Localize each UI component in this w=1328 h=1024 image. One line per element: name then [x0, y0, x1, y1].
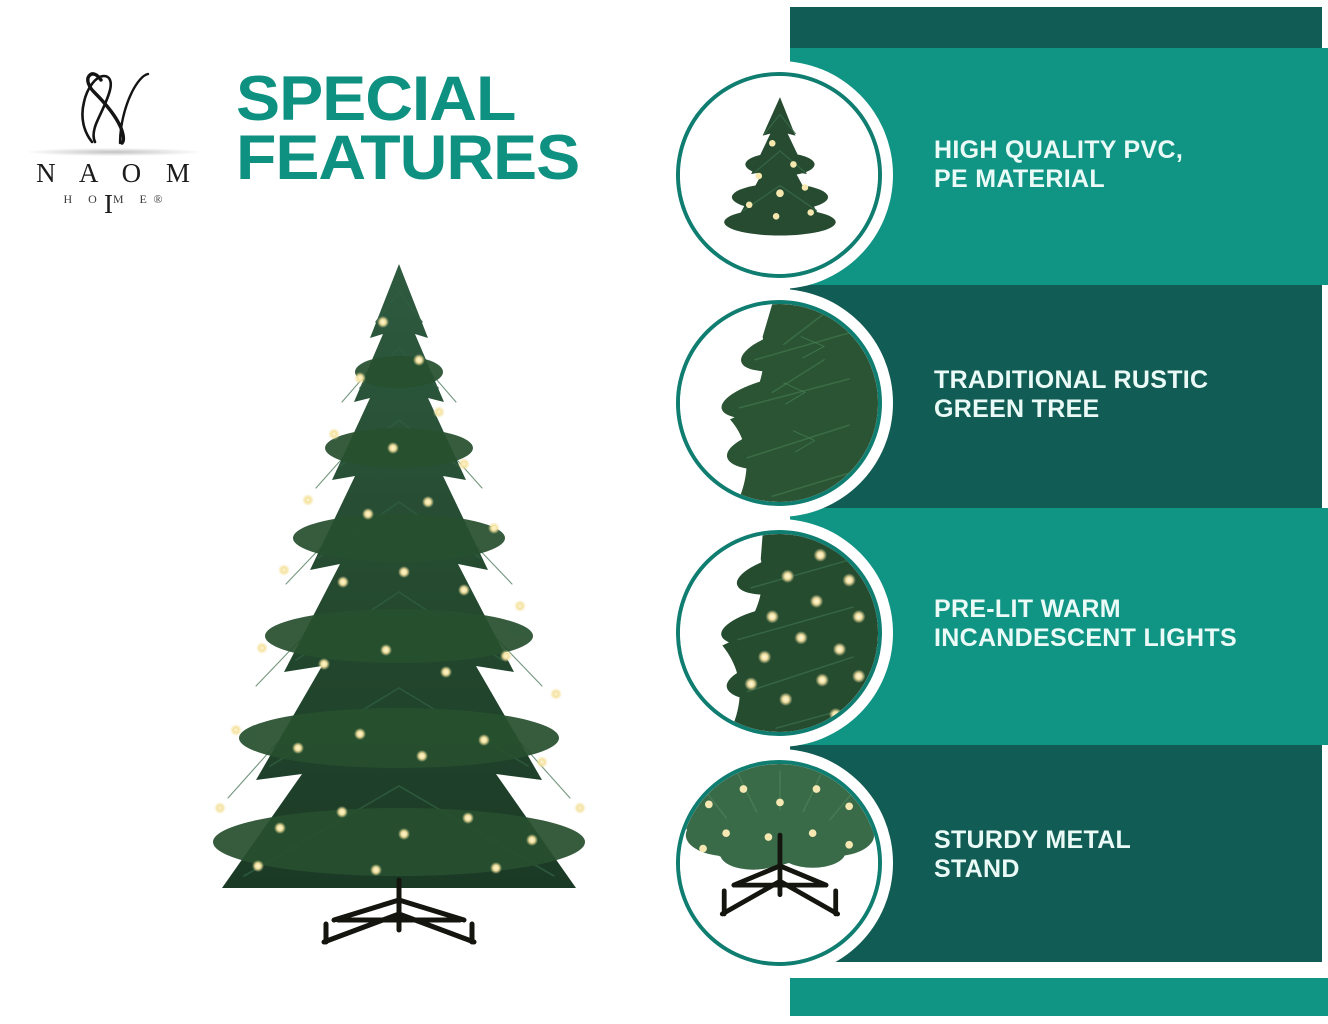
feature-thumbnail-green-branches	[676, 300, 882, 506]
page-title-line1: SPECIAL	[236, 70, 688, 129]
feature-4-line1: STURDY METAL	[934, 826, 1131, 854]
special-features-infographic: N A O M I H O M E® SPECIAL FEATURES	[0, 0, 1328, 1024]
brand-tagline: H O M E®	[18, 192, 208, 207]
brand-name: N A O M I	[18, 158, 208, 220]
feature-thumbnail-warm-lights	[676, 530, 882, 736]
feature-thumbnail-full-tree	[676, 72, 882, 278]
naomi-script-n-monogram-icon	[58, 66, 168, 146]
feature-3-line2: INCANDESCENT LIGHTS	[934, 624, 1306, 653]
page-title-line2: FEATURES	[236, 129, 688, 188]
feature-1-line2: PE MATERIAL	[934, 165, 1306, 194]
panel-band-top-accent	[790, 7, 1322, 48]
page-title: SPECIAL FEATURES	[236, 70, 688, 187]
logo-shadow	[26, 148, 201, 156]
feature-label-1: HIGH QUALITY PVC, PE MATERIAL	[934, 136, 1306, 195]
feature-thumbnail-metal-stand	[676, 760, 882, 966]
feature-label-4: STURDY METAL STAND	[934, 826, 1306, 885]
hero-tree-image	[128, 252, 670, 952]
feature-1-line1: HIGH QUALITY PVC,	[934, 136, 1183, 164]
feature-2-line2: GREEN TREE	[934, 395, 1306, 424]
brand-logo: N A O M I H O M E®	[18, 66, 208, 216]
feature-label-2: TRADITIONAL RUSTIC GREEN TREE	[934, 366, 1306, 425]
panel-band-bottom-accent	[790, 978, 1328, 1016]
feature-3-line1: PRE-LIT WARM	[934, 595, 1121, 623]
feature-2-line1: TRADITIONAL RUSTIC	[934, 366, 1208, 394]
feature-label-3: PRE-LIT WARM INCANDESCENT LIGHTS	[934, 595, 1306, 654]
feature-4-line2: STAND	[934, 855, 1306, 884]
